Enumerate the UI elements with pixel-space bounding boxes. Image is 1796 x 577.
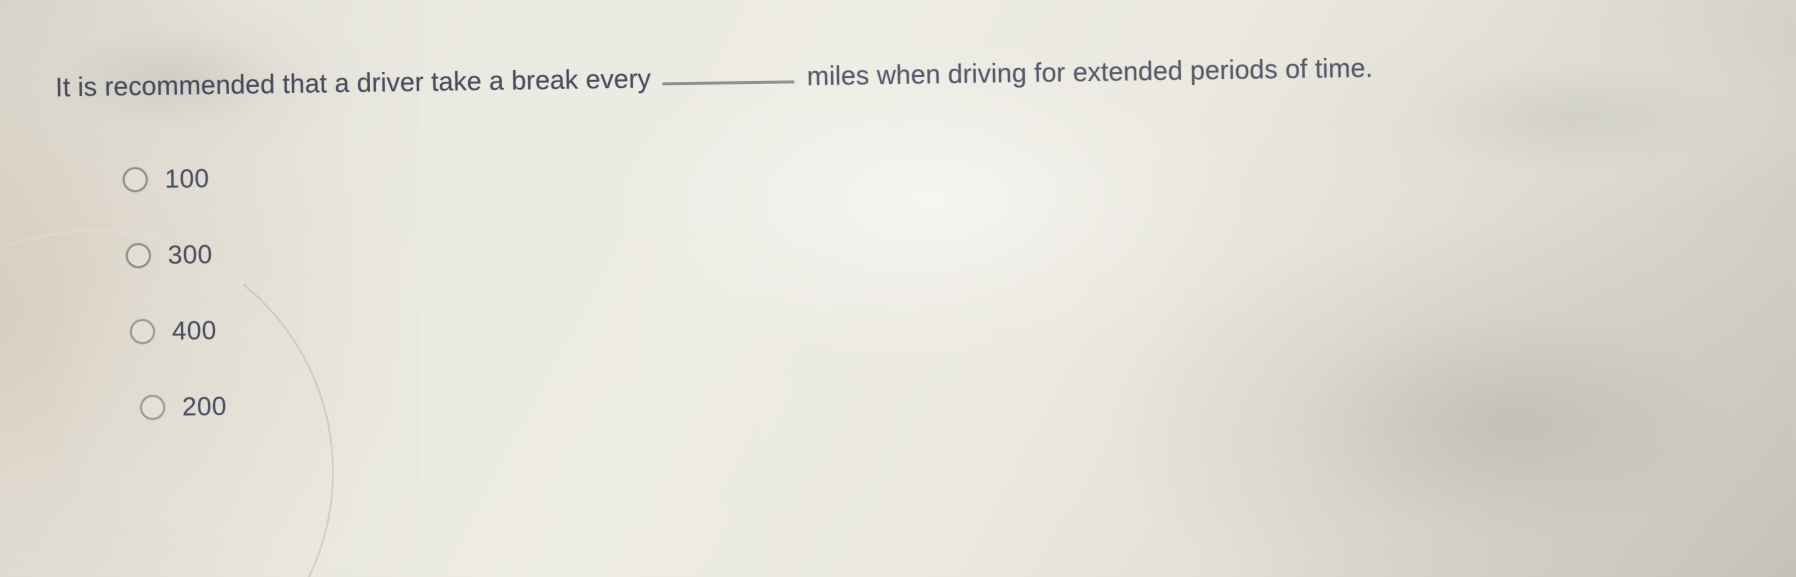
question-text-before-blank: It is recommended that a driver take a b… <box>55 64 651 104</box>
radio-button-icon[interactable] <box>130 318 155 343</box>
answer-options-list: 100 300 400 200 <box>122 154 227 459</box>
quiz-screenshot: It is recommended that a driver take a b… <box>0 0 1796 577</box>
radio-button-icon[interactable] <box>123 166 148 191</box>
answer-option-300[interactable]: 300 <box>126 230 225 279</box>
answer-option-label: 300 <box>168 239 213 271</box>
question-text-after-blank: miles when driving for extended periods … <box>807 53 1373 92</box>
question-prompt: It is recommended that a driver take a b… <box>55 53 1373 104</box>
answer-option-label: 400 <box>172 314 217 346</box>
answer-blank-input[interactable] <box>662 80 794 85</box>
answer-option-400[interactable]: 400 <box>130 306 226 355</box>
answer-option-100[interactable]: 100 <box>122 154 223 203</box>
radio-button-icon[interactable] <box>126 242 151 267</box>
answer-option-label: 100 <box>165 163 210 195</box>
answer-option-label: 200 <box>182 390 227 422</box>
radio-button-icon[interactable] <box>140 394 165 419</box>
answer-option-200[interactable]: 200 <box>140 382 227 431</box>
quiz-content: It is recommended that a driver take a b… <box>0 0 1796 577</box>
